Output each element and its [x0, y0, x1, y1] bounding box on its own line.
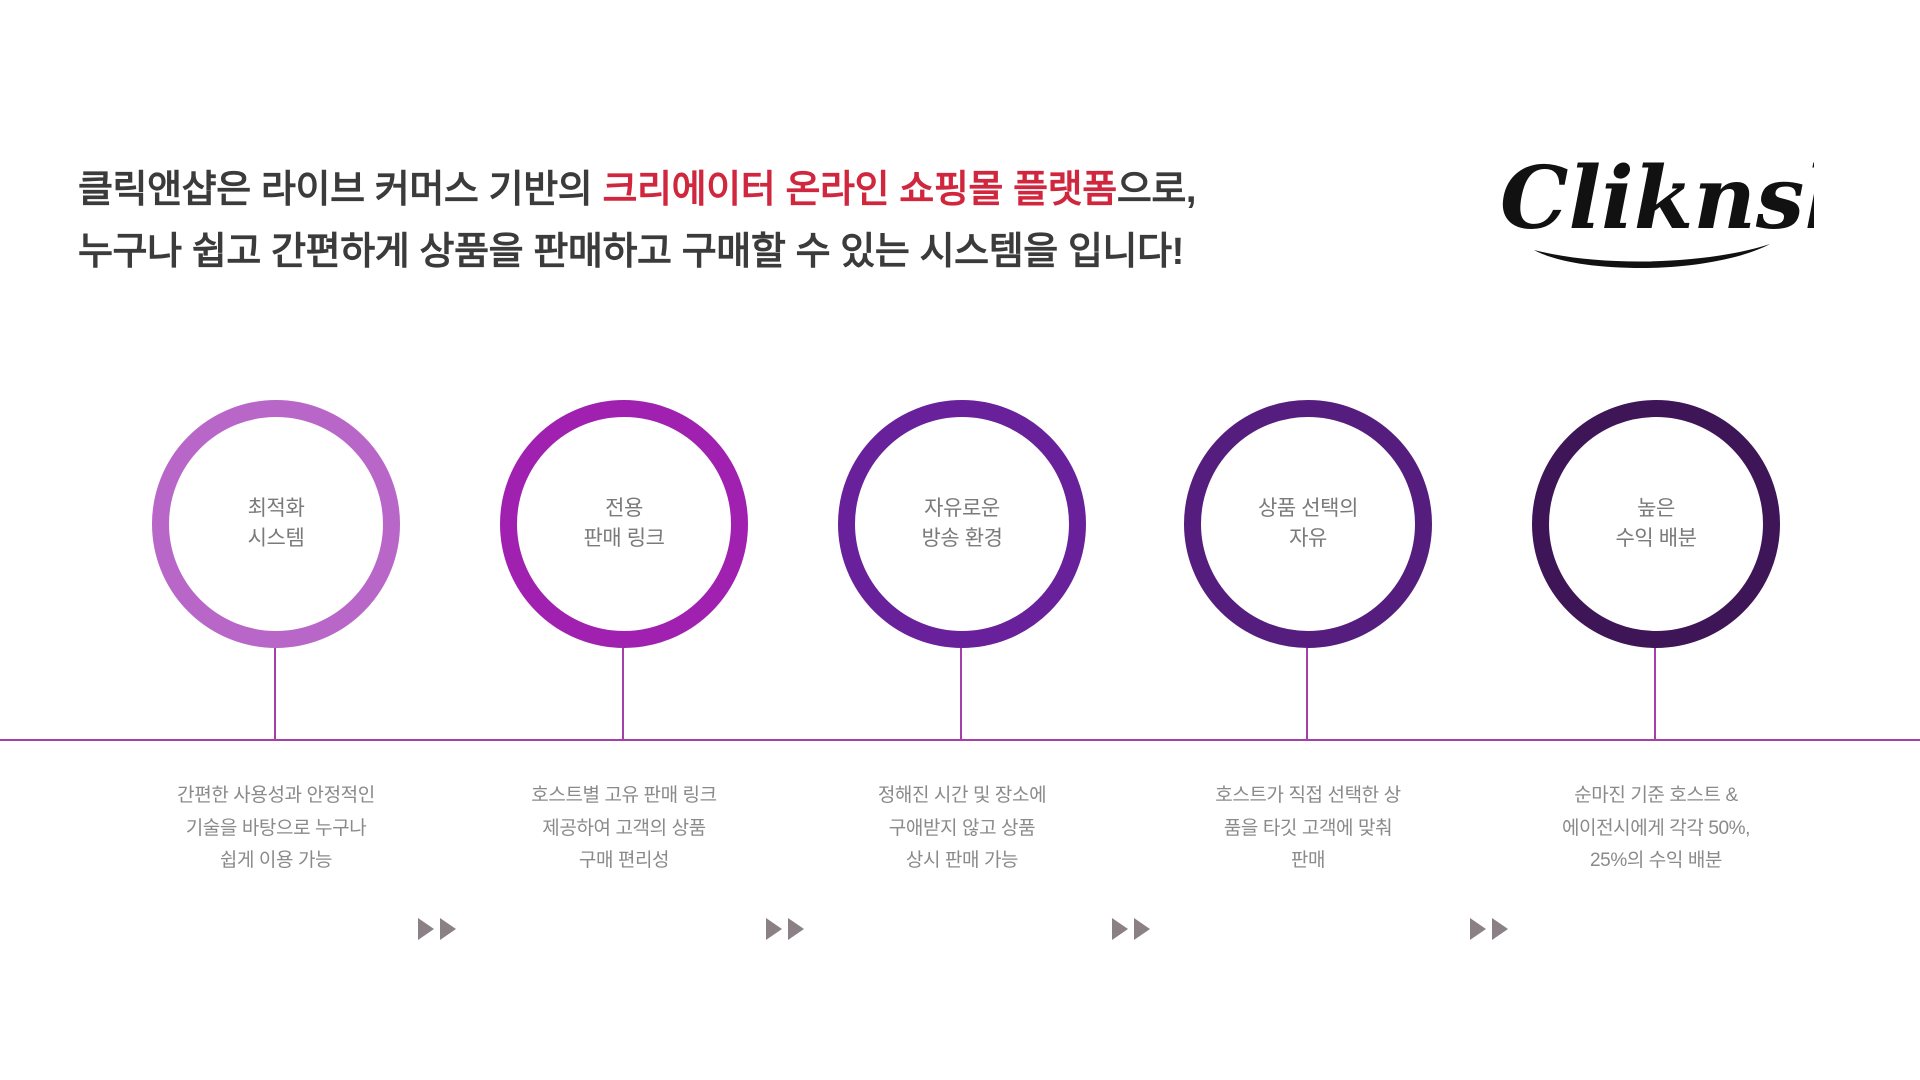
step-circle-1[interactable]: 최적화 시스템	[152, 400, 400, 648]
step-ring-label-1: 최적화 시스템	[248, 494, 305, 555]
cliknshop-logo: Cliknshop	[1494, 132, 1814, 272]
step-caption-4-line-1: 호스트가 직접 선택한 상	[1158, 780, 1458, 813]
step-caption-2-line-2: 제공하여 고객의 상품	[474, 813, 774, 846]
chevron-right-icon	[1134, 918, 1150, 940]
step-ring-label-3-line-2: 방송 환경	[921, 524, 1002, 554]
step-ring-label-2: 전용 판매 링크	[583, 494, 664, 555]
step-caption-4-line-3: 판매	[1158, 845, 1458, 878]
step-caption-4: 호스트가 직접 선택한 상 품을 타깃 고객에 맞춰 판매	[1158, 780, 1458, 878]
step-ring-label-4: 상품 선택의 자유	[1258, 494, 1358, 555]
arrow-separator-2	[766, 918, 804, 940]
step-ring-4: 상품 선택의 자유	[1184, 400, 1432, 648]
step-ring-label-1-line-1: 최적화	[248, 494, 305, 524]
step-caption-4-line-2: 품을 타깃 고객에 맞춰	[1158, 813, 1458, 846]
step-ring-label-4-line-1: 상품 선택의	[1258, 494, 1358, 524]
steps-strip: 최적화 시스템 전용 판매 링크 자유로운 방송 환경	[0, 400, 1920, 700]
step-caption-3-line-1: 정해진 시간 및 장소에	[812, 780, 1112, 813]
step-circle-3[interactable]: 자유로운 방송 환경	[838, 400, 1086, 648]
step-circle-2[interactable]: 전용 판매 링크	[500, 400, 748, 648]
step-caption-2-line-1: 호스트별 고유 판매 링크	[474, 780, 774, 813]
step-caption-5-line-3: 25%의 수익 배분	[1506, 845, 1806, 878]
step-ring-label-3-line-1: 자유로운	[921, 494, 1002, 524]
step-ring-1: 최적화 시스템	[152, 400, 400, 648]
step-ring-label-5-line-2: 수익 배분	[1615, 524, 1696, 554]
horizontal-baseline	[0, 739, 1920, 741]
step-ring-label-4-line-2: 자유	[1258, 524, 1358, 554]
step-circle-4[interactable]: 상품 선택의 자유	[1184, 400, 1432, 648]
headline-line-2: 누구나 쉽고 간편하게 상품을 판매하고 구매할 수 있는 시스템을 입니다!	[78, 222, 1196, 284]
step-circle-5[interactable]: 높은 수익 배분	[1532, 400, 1780, 648]
headline-line-1-suffix: 으로,	[1117, 169, 1196, 211]
chevron-right-icon	[440, 918, 456, 940]
step-ring-label-2-line-1: 전용	[583, 494, 664, 524]
logo-wordmark-text: Cliknshop	[1500, 148, 1814, 249]
chevron-right-icon	[788, 918, 804, 940]
step-caption-1-line-3: 쉽게 이용 가능	[126, 845, 426, 878]
chevron-right-icon	[418, 918, 434, 940]
step-caption-3-line-2: 구애받지 않고 상품	[812, 813, 1112, 846]
step-caption-1: 간편한 사용성과 안정적인 기술을 바탕으로 누구나 쉽게 이용 가능	[126, 780, 426, 878]
step-caption-5: 순마진 기준 호스트 & 에이전시에게 각각 50%, 25%의 수익 배분	[1506, 780, 1806, 878]
step-ring-label-5: 높은 수익 배분	[1615, 494, 1696, 555]
step-ring-label-5-line-1: 높은	[1615, 494, 1696, 524]
step-ring-5: 높은 수익 배분	[1532, 400, 1780, 648]
step-ring-label-3: 자유로운 방송 환경	[921, 494, 1002, 555]
page-headline: 클릭앤샵은 라이브 커머스 기반의 크리에이터 온라인 쇼핑몰 플랫폼으로, 누…	[78, 160, 1196, 283]
chevron-right-icon	[766, 918, 782, 940]
step-caption-3-line-3: 상시 판매 가능	[812, 845, 1112, 878]
step-caption-2-line-3: 구매 편리성	[474, 845, 774, 878]
step-ring-label-2-line-2: 판매 링크	[583, 524, 664, 554]
chevron-right-icon	[1112, 918, 1128, 940]
step-caption-1-line-2: 기술을 바탕으로 누구나	[126, 813, 426, 846]
step-caption-5-line-2: 에이전시에게 각각 50%,	[1506, 813, 1806, 846]
chevron-right-icon	[1492, 918, 1508, 940]
header-section: 클릭앤샵은 라이브 커머스 기반의 크리에이터 온라인 쇼핑몰 플랫폼으로, 누…	[0, 0, 1920, 300]
step-caption-2: 호스트별 고유 판매 링크 제공하여 고객의 상품 구매 편리성	[474, 780, 774, 878]
step-ring-3: 자유로운 방송 환경	[838, 400, 1086, 648]
step-ring-2: 전용 판매 링크	[500, 400, 748, 648]
arrow-separator-3	[1112, 918, 1150, 940]
headline-line-1: 클릭앤샵은 라이브 커머스 기반의 크리에이터 온라인 쇼핑몰 플랫폼으로,	[78, 160, 1196, 222]
chevron-right-icon	[1470, 918, 1486, 940]
arrow-separator-4	[1470, 918, 1508, 940]
step-caption-1-line-1: 간편한 사용성과 안정적인	[126, 780, 426, 813]
step-ring-label-1-line-2: 시스템	[248, 524, 305, 554]
headline-line-1-prefix: 클릭앤샵은 라이브 커머스 기반의	[78, 169, 602, 211]
arrow-separator-1	[418, 918, 456, 940]
step-caption-3: 정해진 시간 및 장소에 구애받지 않고 상품 상시 판매 가능	[812, 780, 1112, 878]
headline-accent-phrase: 크리에이터 온라인 쇼핑몰 플랫폼	[602, 169, 1116, 211]
step-caption-5-line-1: 순마진 기준 호스트 &	[1506, 780, 1806, 813]
